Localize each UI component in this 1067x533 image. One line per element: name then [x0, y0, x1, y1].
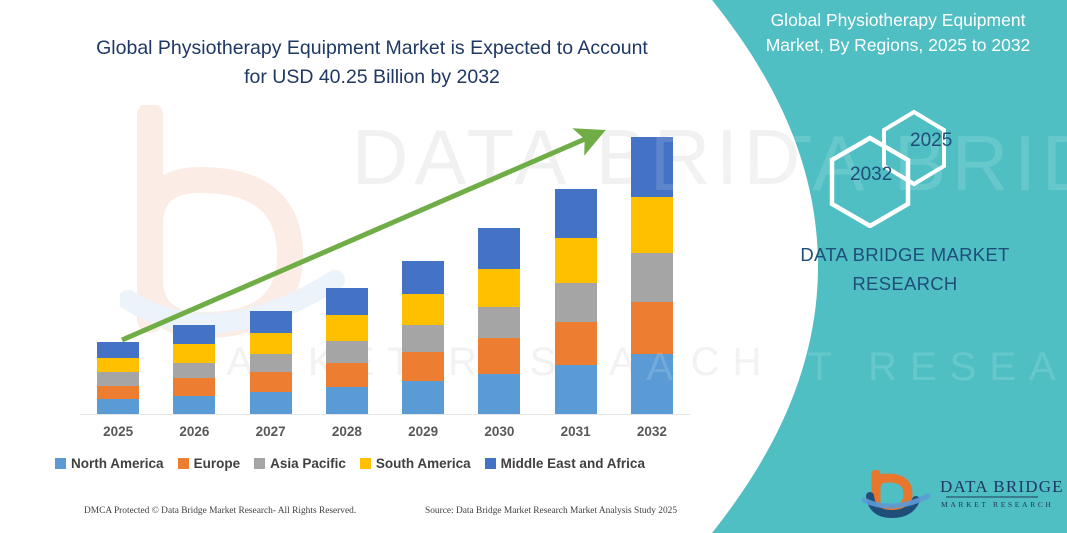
- bar-segment: [402, 325, 444, 352]
- footer-source: Source: Data Bridge Market Research Mark…: [425, 506, 677, 516]
- x-axis-tick-labels: 20252026202720282029203020312032: [80, 424, 690, 444]
- bar-segment: [97, 358, 139, 373]
- x-tick-label-2029: 2029: [388, 424, 458, 439]
- bar-segment: [478, 228, 520, 268]
- bar-segment: [555, 283, 597, 322]
- bar-segment: [326, 387, 368, 415]
- x-tick-label-2025: 2025: [83, 424, 153, 439]
- bar-segment: [173, 378, 215, 395]
- bar-segment: [173, 396, 215, 416]
- hexagon-group: 2032 2025: [826, 108, 1006, 228]
- legend-swatch-icon: [485, 458, 496, 469]
- legend-label: Asia Pacific: [270, 456, 346, 471]
- bar-2032: [631, 137, 673, 415]
- legend-label: South America: [376, 456, 471, 471]
- panel-heading: Global Physiotherapy Equipment Market, B…: [748, 8, 1048, 58]
- bar-segment: [478, 269, 520, 307]
- bar-segment: [97, 372, 139, 385]
- bar-segment: [97, 399, 139, 415]
- bar-segment: [402, 294, 444, 324]
- bar-segment: [478, 307, 520, 339]
- x-axis-line: [80, 414, 690, 415]
- bar-segment: [250, 333, 292, 354]
- legend-item[interactable]: North America: [55, 456, 164, 471]
- bar-segment: [631, 253, 673, 302]
- panel-brand-line2: RESEARCH: [852, 273, 957, 294]
- legend-swatch-icon: [55, 458, 66, 469]
- bar-segment: [631, 137, 673, 197]
- bar-segment: [631, 197, 673, 253]
- bar-segment: [250, 372, 292, 392]
- bar-segment: [97, 386, 139, 399]
- legend-swatch-icon: [178, 458, 189, 469]
- footer-copyright: DMCA Protected © Data Bridge Market Rese…: [84, 506, 356, 516]
- bar-2029: [402, 261, 444, 415]
- bar-segment: [326, 315, 368, 341]
- bar-2031: [555, 189, 597, 415]
- bar-segment: [326, 288, 368, 315]
- bar-segment: [173, 363, 215, 379]
- panel-brand-line1: DATA BRIDGE MARKET: [800, 244, 1009, 265]
- bar-segment: [250, 311, 292, 333]
- x-tick-label-2030: 2030: [464, 424, 534, 439]
- bar-segment: [555, 189, 597, 238]
- bar-segment: [631, 354, 673, 415]
- x-tick-label-2031: 2031: [541, 424, 611, 439]
- bar-segment: [555, 238, 597, 283]
- chart-legend: North AmericaEuropeAsia PacificSouth Ame…: [0, 456, 700, 471]
- x-tick-label-2026: 2026: [159, 424, 229, 439]
- bar-segment: [250, 392, 292, 415]
- x-tick-label-2027: 2027: [236, 424, 306, 439]
- hexagon-label-2025: 2025: [910, 130, 952, 152]
- bar-segment: [173, 344, 215, 362]
- chart-title-line1: Global Physiotherapy Equipment Market is…: [96, 37, 648, 59]
- bar-segment: [97, 342, 139, 358]
- legend-label: Middle East and Africa: [501, 456, 645, 471]
- panel-heading-line2: Market, By Regions, 2025 to 2032: [766, 35, 1031, 55]
- bar-segment: [478, 338, 520, 373]
- legend-item[interactable]: Asia Pacific: [254, 456, 346, 471]
- bar-2030: [478, 228, 520, 415]
- legend-swatch-icon: [254, 458, 265, 469]
- legend-item[interactable]: Europe: [178, 456, 241, 471]
- bar-2028: [326, 288, 368, 415]
- bar-segment: [402, 381, 444, 415]
- legend-label: North America: [71, 456, 164, 471]
- bar-segment: [555, 322, 597, 365]
- x-tick-label-2032: 2032: [617, 424, 687, 439]
- legend-item[interactable]: Middle East and Africa: [485, 456, 645, 471]
- bar-segment: [402, 352, 444, 381]
- bar-2025: [97, 342, 139, 415]
- panel-brand-text: DATA BRIDGE MARKET RESEARCH: [760, 240, 1050, 298]
- bar-segment: [326, 363, 368, 387]
- bar-2027: [250, 311, 292, 415]
- logo-title: DATA BRIDGE: [940, 477, 1064, 497]
- legend-swatch-icon: [360, 458, 371, 469]
- stacked-bar-chart: [80, 120, 690, 415]
- bar-2026: [173, 325, 215, 415]
- bar-segment: [555, 365, 597, 415]
- chart-title-line2: for USD 40.25 Billion by 2032: [244, 66, 500, 88]
- infographic-page: DATA BRIDGE MARKET RESEARCH Global Physi…: [0, 0, 1067, 533]
- bar-segment: [631, 302, 673, 354]
- logo-subtitle: MARKET RESEARCH: [941, 500, 1054, 509]
- panel-heading-line1: Global Physiotherapy Equipment: [771, 10, 1026, 30]
- legend-label: Europe: [194, 456, 241, 471]
- bar-segment: [173, 325, 215, 345]
- chart-title: Global Physiotherapy Equipment Market is…: [62, 34, 682, 92]
- legend-item[interactable]: South America: [360, 456, 471, 471]
- bar-segment: [250, 354, 292, 372]
- bar-segment: [478, 374, 520, 415]
- hexagon-label-2032: 2032: [850, 164, 892, 186]
- bar-segment: [402, 261, 444, 294]
- bar-segment: [326, 341, 368, 363]
- x-tick-label-2028: 2028: [312, 424, 382, 439]
